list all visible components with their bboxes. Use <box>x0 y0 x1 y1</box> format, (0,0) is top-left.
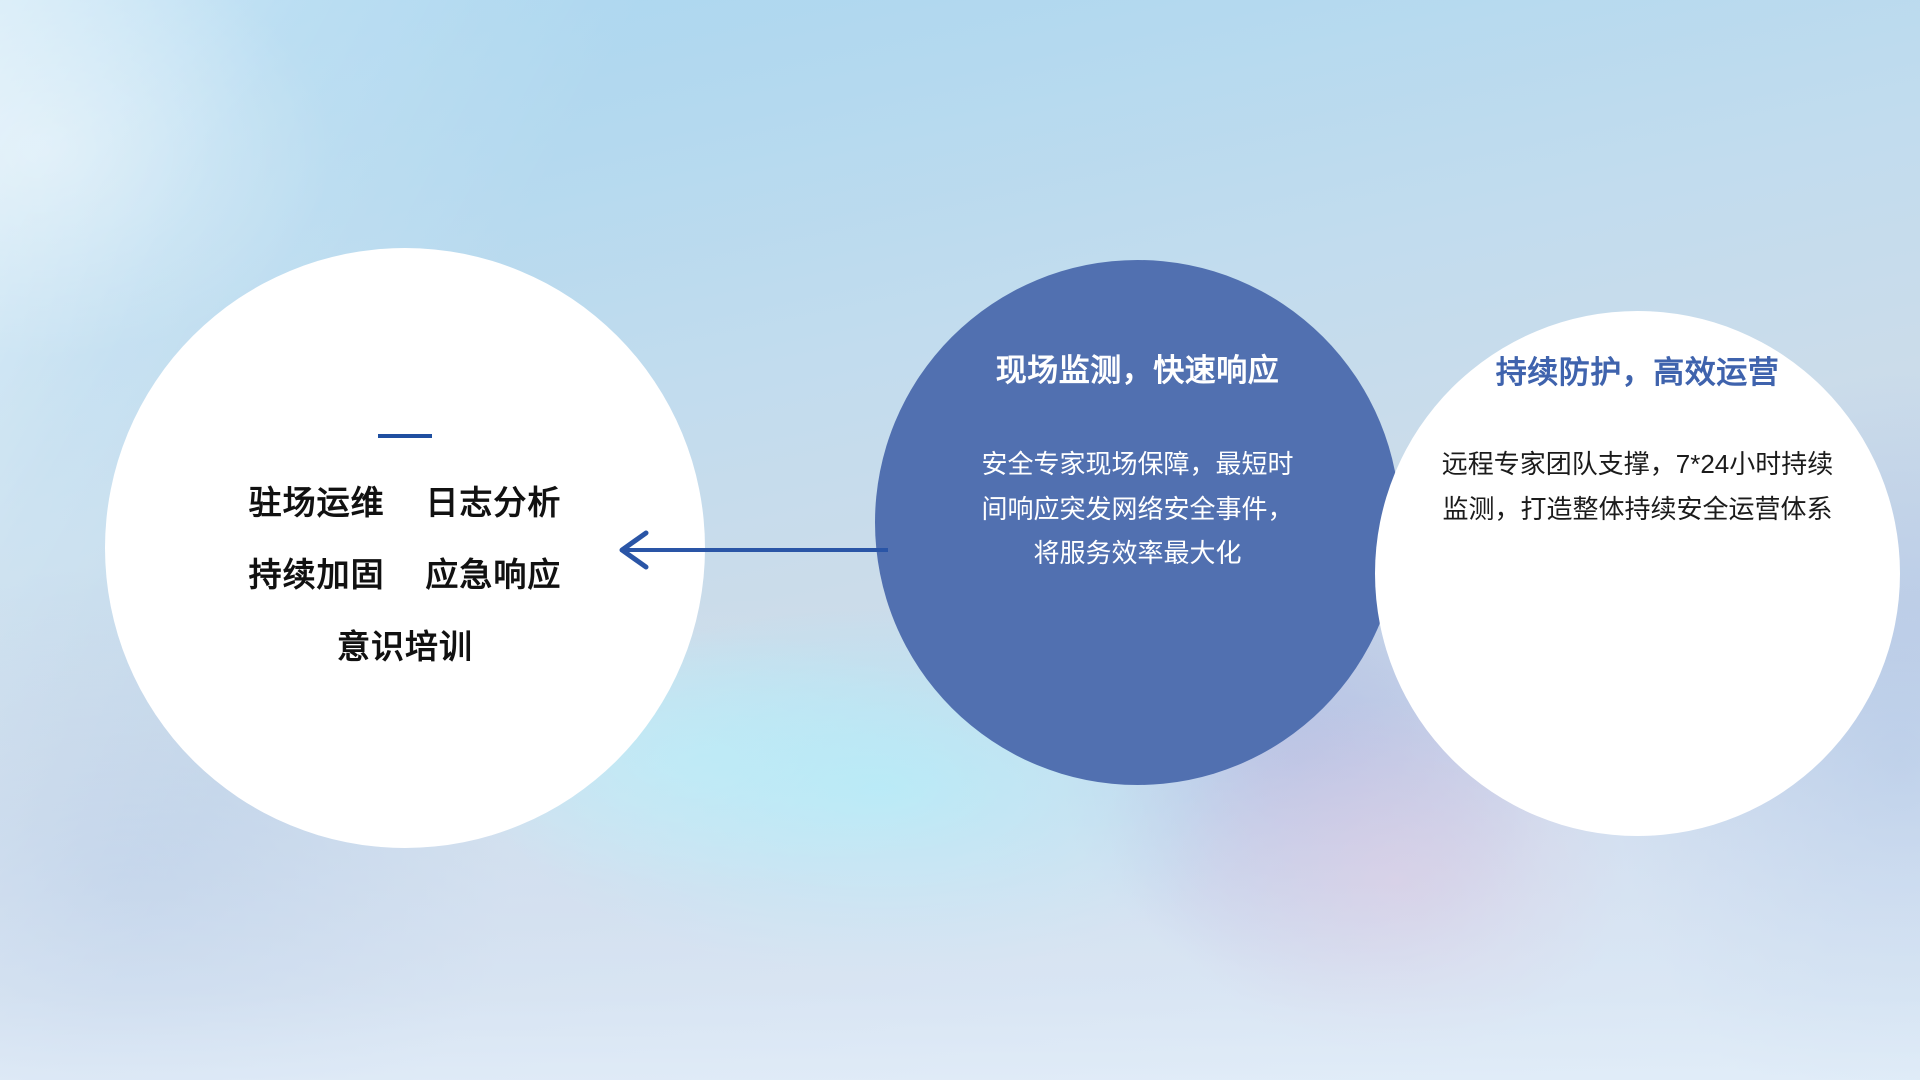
divider-rule <box>378 434 432 438</box>
capability-line-2: 持续加固 应急响应 <box>249 558 562 591</box>
right-panel-title: 持续防护，高效运营 <box>1496 347 1780 392</box>
center-panel-title: 现场监测，快速响应 <box>996 345 1280 390</box>
left-capability-panel: 驻场运维 日志分析 持续加固 应急响应 意识培训 <box>105 248 705 848</box>
center-panel-body: 安全专家现场保障，最短时间响应突发网络安全事件，将服务效率最大化 <box>978 442 1298 576</box>
capability-line-3: 意识培训 <box>337 630 473 663</box>
capability-line-1: 驻场运维 日志分析 <box>249 486 562 519</box>
right-operations-panel: 持续防护，高效运营 远程专家团队支撑，7*24小时持续监测，打造整体持续安全运营… <box>1375 311 1900 836</box>
right-panel-body: 远程专家团队支撑，7*24小时持续监测，打造整体持续安全运营体系 <box>1433 442 1843 531</box>
center-onsite-panel: 现场监测，快速响应 安全专家现场保障，最短时间响应突发网络安全事件，将服务效率最… <box>875 260 1400 785</box>
